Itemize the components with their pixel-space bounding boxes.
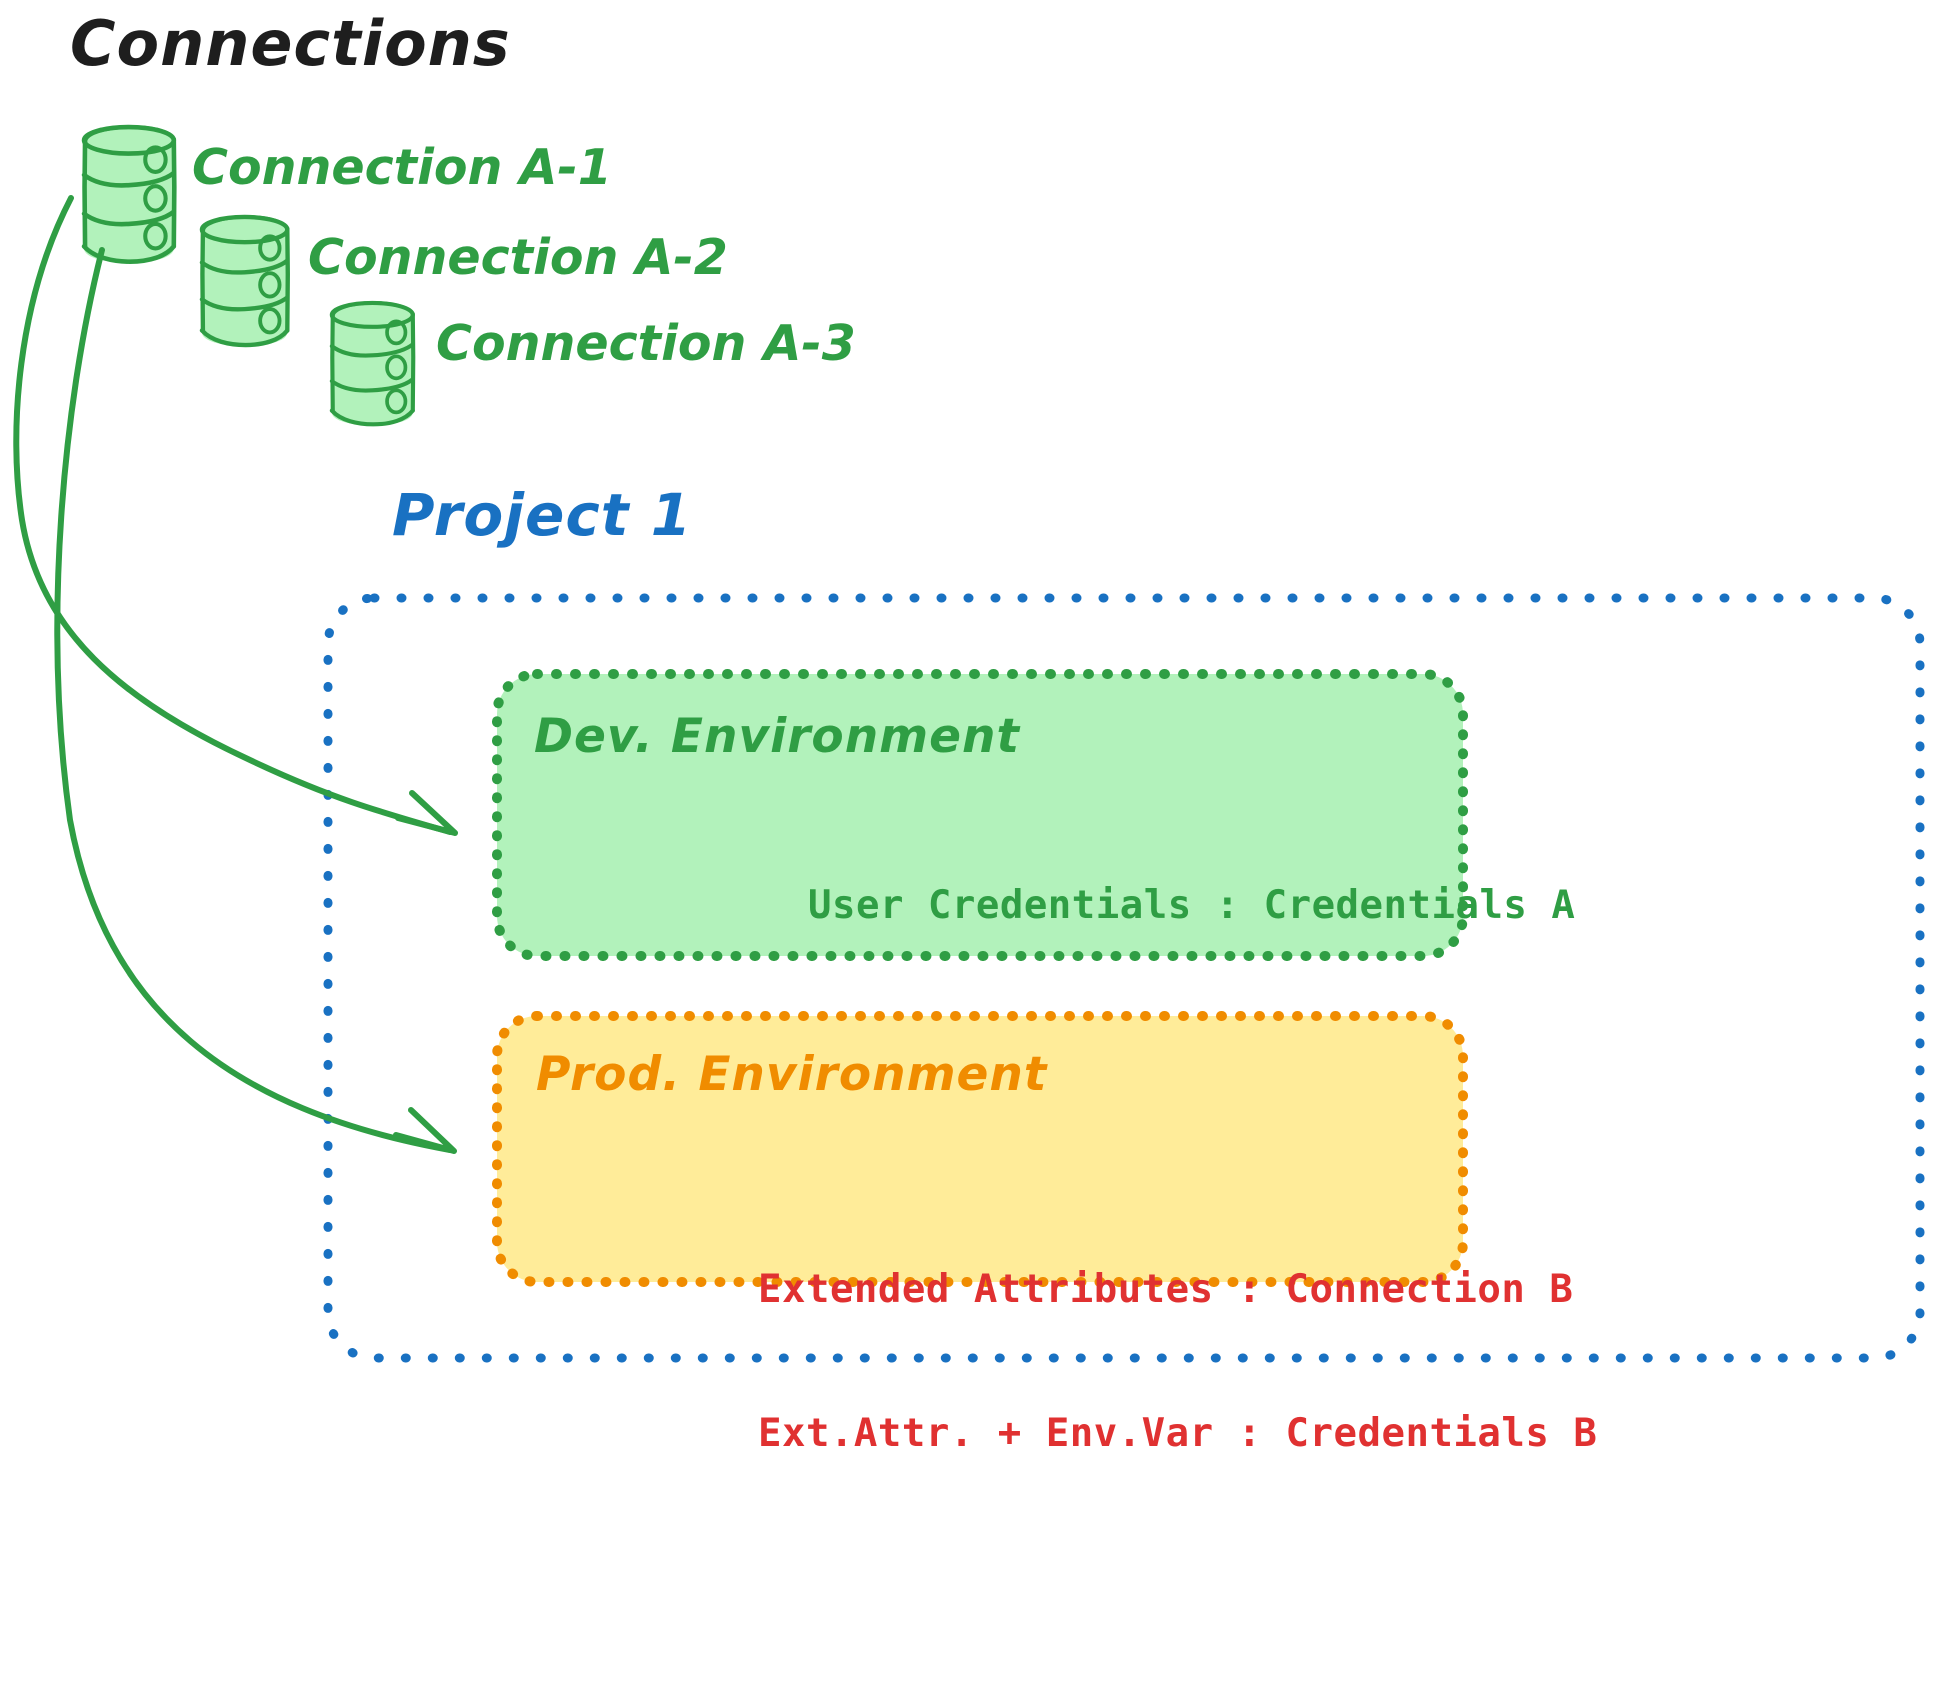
connection-label-a2: Connection A-2	[308, 230, 728, 286]
dev-credentials-line: User Credentials : Credentials A	[808, 884, 1575, 929]
prod-environment-label: Prod. Environment	[536, 1048, 1047, 1102]
connection-label-a1: Connection A-1	[192, 140, 612, 196]
project-title: Project 1	[392, 482, 692, 549]
connection-label-a3: Connection A-3	[436, 316, 856, 372]
database-icon-connection-a3[interactable]	[332, 302, 413, 425]
prod-line-extended-attributes: Extended Attributes : Connection B	[758, 1268, 1597, 1313]
database-icon-connection-a1[interactable]	[84, 126, 174, 263]
prod-attribute-lines: Extended Attributes : Connection B Ext.A…	[758, 1178, 1597, 1547]
database-icon-connection-a2[interactable]	[202, 216, 288, 346]
diagram-canvas: Connections Connection A-1 Connection A-…	[0, 0, 1938, 1691]
dev-environment-label: Dev. Environment	[534, 710, 1020, 764]
page-title: Connections	[70, 8, 511, 79]
prod-line-ext-attr-env-var: Ext.Attr. + Env.Var : Credentials B	[758, 1412, 1597, 1457]
